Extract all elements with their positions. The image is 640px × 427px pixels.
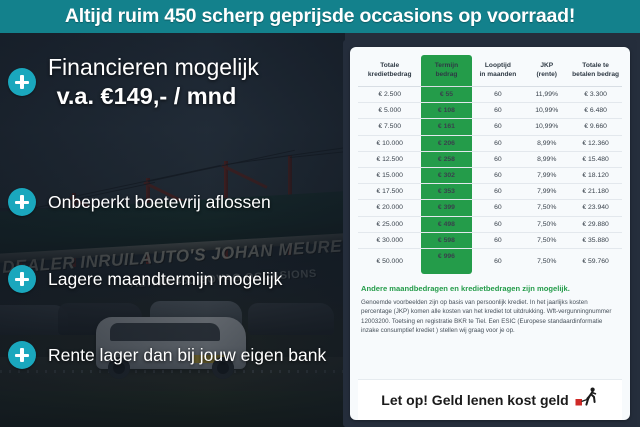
rate-table-body: € 2.500 € 55 60 11,99% € 3.300 € 5.000 €… xyxy=(358,87,622,274)
cell-termijn: € 399 xyxy=(421,200,471,216)
feature-item-label: Onbeperkt boetevrij aflossen xyxy=(48,192,271,213)
cell-totaal: € 21.180 xyxy=(569,184,622,200)
header-line2: (rente) xyxy=(526,70,567,79)
plus-circle-icon xyxy=(8,68,36,96)
cell-looptijd: 60 xyxy=(472,151,525,167)
table-row: € 20.000 € 399 60 7,50% € 23.940 xyxy=(358,200,622,216)
feature-item-financing: Financieren mogelijk v.a. €149,- / mnd xyxy=(8,53,259,111)
header-line2: bedrag xyxy=(423,70,469,79)
top-banner: Altijd ruim 450 scherp geprijsde occasio… xyxy=(0,0,640,33)
header-line2: betalen bedrag xyxy=(571,70,620,79)
column-header-termijn: Termijn bedrag xyxy=(421,55,471,87)
credit-warning-bar: Let op! Geld lenen kost geld xyxy=(358,379,622,420)
cell-looptijd: 60 xyxy=(472,184,525,200)
afm-walking-person-dragging-block-icon xyxy=(575,387,599,412)
banner-headline: Altijd ruim 450 scherp geprijsde occasio… xyxy=(65,5,575,28)
header-line2: kredietbedrag xyxy=(360,70,419,79)
rate-card: Totale kredietbedrag Termijn bedrag Loop… xyxy=(350,47,630,420)
column-header-jkp: JKP (rente) xyxy=(524,55,569,87)
cell-krediet: € 5.000 xyxy=(358,103,421,119)
header-line1: Totale xyxy=(380,62,399,69)
column-header-looptijd: Looptijd in maanden xyxy=(472,55,525,87)
cell-krediet: € 12.500 xyxy=(358,151,421,167)
cell-looptijd: 60 xyxy=(472,87,525,103)
feature-financing-line1: Financieren mogelijk xyxy=(48,53,259,81)
plus-circle-icon xyxy=(8,341,36,369)
table-row: € 25.000 € 498 60 7,50% € 29.880 xyxy=(358,216,622,232)
feature-list: Financieren mogelijk v.a. €149,- / mnd O… xyxy=(0,33,345,427)
table-row: € 12.500 € 258 60 8,99% € 15.480 xyxy=(358,151,622,167)
cell-termijn: € 598 xyxy=(421,232,471,248)
table-row: € 5.000 € 108 60 10,99% € 6.480 xyxy=(358,103,622,119)
cell-jkp: 7,50% xyxy=(524,216,569,232)
cell-termijn: € 55 xyxy=(421,87,471,103)
feature-item-1: Lagere maandtermijn mogelijk xyxy=(8,265,282,293)
cell-jkp: 7,50% xyxy=(524,248,569,274)
rate-table-head: Totale kredietbedrag Termijn bedrag Loop… xyxy=(358,55,622,87)
cell-jkp: 10,99% xyxy=(524,103,569,119)
feature-item-label: Lagere maandtermijn mogelijk xyxy=(48,269,282,290)
table-row: € 17.500 € 353 60 7,99% € 21.180 xyxy=(358,184,622,200)
column-header-totaal: Totale te betalen bedrag xyxy=(569,55,622,87)
cell-looptijd: 60 xyxy=(472,216,525,232)
cell-krediet: € 17.500 xyxy=(358,184,421,200)
credit-warning-text: Let op! Geld lenen kost geld xyxy=(381,392,568,408)
plus-circle-icon xyxy=(8,265,36,293)
column-header-krediet: Totale kredietbedrag xyxy=(358,55,421,87)
cell-termijn: € 302 xyxy=(421,167,471,183)
cell-totaal: € 29.880 xyxy=(569,216,622,232)
cell-krediet: € 50.000 xyxy=(358,248,421,274)
cell-jkp: 7,99% xyxy=(524,184,569,200)
cell-krediet: € 2.500 xyxy=(358,87,421,103)
cell-termijn: € 996 xyxy=(421,248,471,274)
feature-item-2: Rente lager dan bij jouw eigen bank xyxy=(8,341,326,369)
cell-termijn: € 258 xyxy=(421,151,471,167)
cell-looptijd: 60 xyxy=(472,232,525,248)
cell-termijn: € 206 xyxy=(421,135,471,151)
cell-jkp: 11,99% xyxy=(524,87,569,103)
feature-item-0: Onbeperkt boetevrij aflossen xyxy=(8,188,271,216)
cell-jkp: 7,50% xyxy=(524,232,569,248)
cell-looptijd: 60 xyxy=(472,167,525,183)
table-row: € 10.000 € 206 60 8,99% € 12.360 xyxy=(358,135,622,151)
cell-looptijd: 60 xyxy=(472,119,525,135)
cell-termijn: € 498 xyxy=(421,216,471,232)
table-row: € 2.500 € 55 60 11,99% € 3.300 xyxy=(358,87,622,103)
header-line1: Totale te xyxy=(582,62,609,69)
header-line2: in maanden xyxy=(474,70,523,79)
cell-krediet: € 25.000 xyxy=(358,216,421,232)
cell-krediet: € 7.500 xyxy=(358,119,421,135)
cell-krediet: € 30.000 xyxy=(358,232,421,248)
feature-financing-line2: v.a. €149,- / mnd xyxy=(48,81,259,111)
cell-totaal: € 6.480 xyxy=(569,103,622,119)
cell-jkp: 7,50% xyxy=(524,200,569,216)
disclaimer-notes: Andere maandbedragen en kredietbedragen … xyxy=(358,274,622,335)
cell-totaal: € 35.880 xyxy=(569,232,622,248)
feature-item-label: Rente lager dan bij jouw eigen bank xyxy=(48,345,326,366)
cell-totaal: € 12.360 xyxy=(569,135,622,151)
cell-looptijd: 60 xyxy=(472,200,525,216)
header-line1: Looptijd xyxy=(485,62,511,69)
rate-table: Totale kredietbedrag Termijn bedrag Loop… xyxy=(358,55,622,274)
table-row: € 15.000 € 302 60 7,99% € 18.120 xyxy=(358,167,622,183)
rate-panel: Totale kredietbedrag Termijn bedrag Loop… xyxy=(343,40,637,427)
table-header-row: Totale kredietbedrag Termijn bedrag Loop… xyxy=(358,55,622,87)
cell-looptijd: 60 xyxy=(472,103,525,119)
cell-krediet: € 15.000 xyxy=(358,167,421,183)
plus-circle-icon xyxy=(8,188,36,216)
cell-totaal: € 18.120 xyxy=(569,167,622,183)
cell-termijn: € 353 xyxy=(421,184,471,200)
cell-jkp: 8,99% xyxy=(524,151,569,167)
promo-banner-image: DEALER INRUILAUTO'S JOHAN MEURE ALTIJD 4… xyxy=(0,0,640,427)
cell-totaal: € 59.760 xyxy=(569,248,622,274)
cell-totaal: € 23.940 xyxy=(569,200,622,216)
cell-termijn: € 161 xyxy=(421,119,471,135)
cell-totaal: € 9.660 xyxy=(569,119,622,135)
cell-jkp: 7,99% xyxy=(524,167,569,183)
header-line1: Termijn xyxy=(435,62,458,69)
cell-looptijd: 60 xyxy=(472,135,525,151)
table-row: € 7.500 € 161 60 10,99% € 9.660 xyxy=(358,119,622,135)
cell-krediet: € 10.000 xyxy=(358,135,421,151)
notes-heading: Andere maandbedragen en kredietbedragen … xyxy=(361,283,619,294)
cell-looptijd: 60 xyxy=(472,248,525,274)
cell-termijn: € 108 xyxy=(421,103,471,119)
header-line1: JKP xyxy=(540,62,553,69)
cell-jkp: 10,99% xyxy=(524,119,569,135)
cell-krediet: € 20.000 xyxy=(358,200,421,216)
feature-text-group: Financieren mogelijk v.a. €149,- / mnd xyxy=(48,53,259,111)
cell-totaal: € 3.300 xyxy=(569,87,622,103)
notes-body: Genoemde voorbeelden zijn op basis van p… xyxy=(361,298,619,335)
table-row: € 50.000 € 996 60 7,50% € 59.760 xyxy=(358,248,622,274)
table-row: € 30.000 € 598 60 7,50% € 35.880 xyxy=(358,232,622,248)
cell-jkp: 8,99% xyxy=(524,135,569,151)
cell-totaal: € 15.480 xyxy=(569,151,622,167)
